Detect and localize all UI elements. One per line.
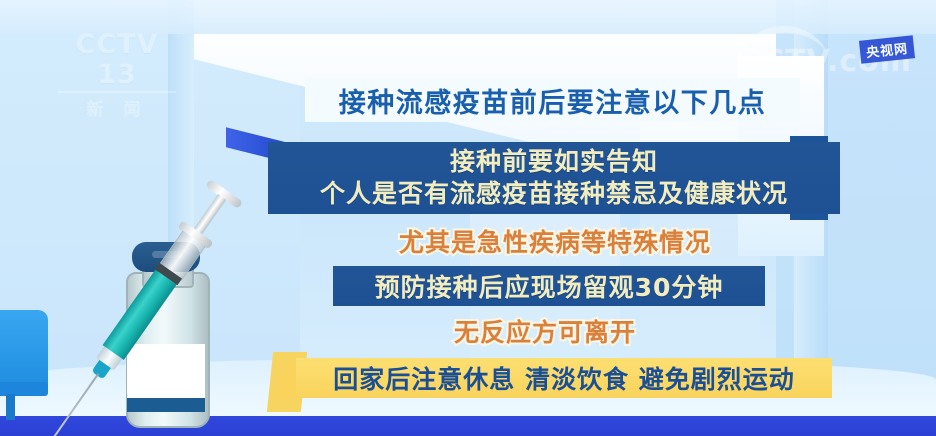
clinic-chair-back — [0, 310, 48, 388]
clinic-chair-leg — [6, 394, 15, 420]
info-block-leave: 无反应方可离开 — [400, 312, 690, 350]
page-title: 接种流感疫苗前后要注意以下几点 — [305, 78, 800, 122]
ceiling-strip — [0, 0, 936, 34]
info-block-acute: 尤其是急性疾病等特殊情况 — [360, 222, 750, 260]
vial-label — [127, 344, 205, 398]
info-block-home: 回家后注意休息 清淡饮食 避免剧烈运动 — [296, 358, 832, 398]
broadcast-graphic: CCTV 13 新 闻 CCTV.com 央视网 接种流感疫苗前后要注意以下几点… — [0, 0, 936, 436]
info-block-inform-line2: 个人是否有流感疫苗接种禁忌及健康状况 — [320, 177, 788, 210]
info-block-acute-text: 尤其是急性疾病等特殊情况 — [399, 223, 711, 259]
info-block-observe-text: 预防接种后应现场留观30分钟 — [375, 268, 724, 304]
info-block-inform-line1: 接种前要如实告知 — [450, 146, 658, 177]
page-title-text: 接种流感疫苗前后要注意以下几点 — [339, 81, 767, 120]
info-block-inform: 接种前要如实告知 个人是否有流感疫苗接种禁忌及健康状况 — [268, 142, 840, 214]
info-block-observe: 预防接种后应现场留观30分钟 — [333, 266, 765, 306]
info-block-leave-text: 无反应方可离开 — [454, 313, 636, 349]
vial-band — [127, 398, 205, 412]
info-block-home-text: 回家后注意休息 清淡饮食 避免剧烈运动 — [333, 360, 794, 396]
